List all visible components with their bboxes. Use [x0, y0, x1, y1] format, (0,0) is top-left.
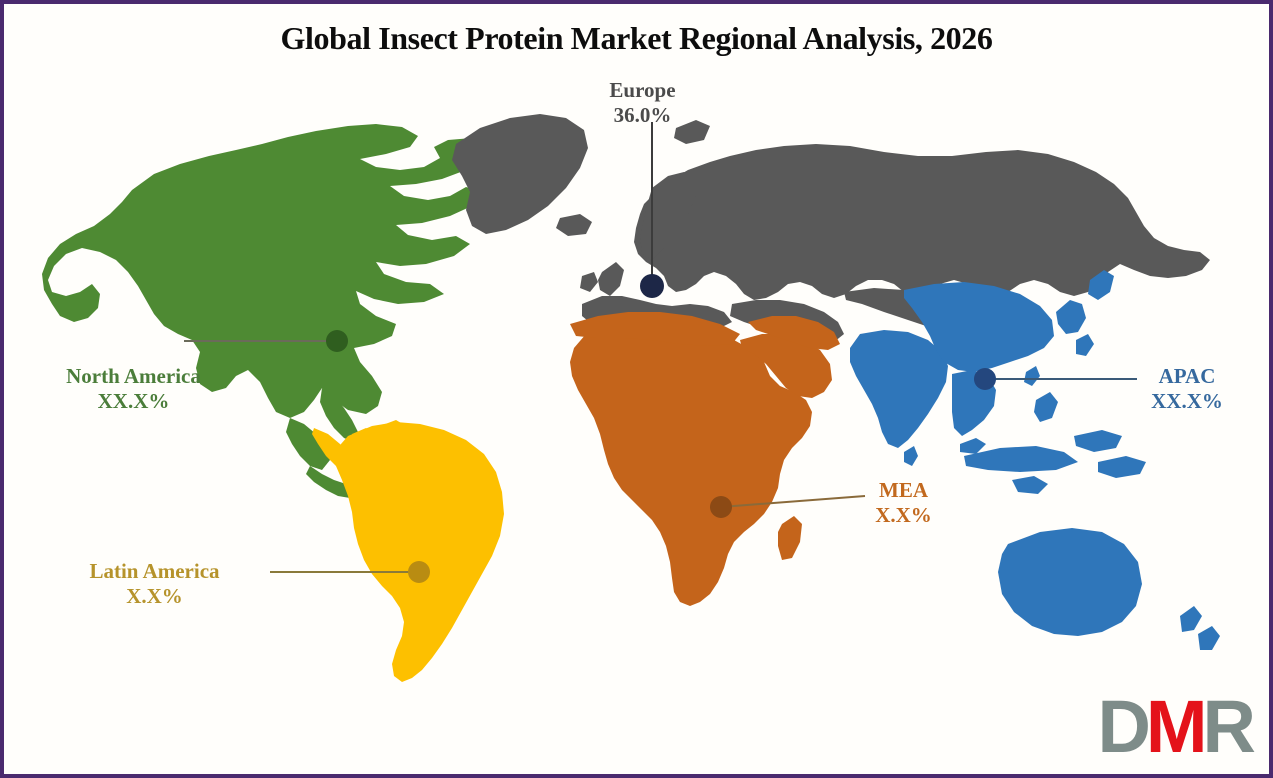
region-europe[interactable] [452, 114, 1210, 344]
logo-letter-d: D [1097, 685, 1145, 768]
region-name-europe: Europe [574, 78, 711, 103]
region-mea[interactable] [570, 312, 840, 606]
region-value-apac: XX.X% [1122, 389, 1252, 414]
marker-europe[interactable] [640, 274, 664, 298]
region-value-europe: 36.0% [574, 103, 711, 128]
region-latin-america[interactable] [312, 420, 504, 682]
dmr-logo: DMR [1097, 690, 1251, 764]
region-label-north-america: North America XX.X% [26, 364, 241, 414]
region-name-latin-america: Latin America [52, 559, 257, 584]
marker-apac[interactable] [974, 368, 996, 390]
logo-letter-m: M [1146, 685, 1203, 768]
chart-canvas: Global Insect Protein Market Regional An… [0, 0, 1273, 778]
region-name-north-america: North America [26, 364, 241, 389]
region-label-apac: APAC XX.X% [1122, 364, 1252, 414]
region-value-north-america: XX.X% [26, 389, 241, 414]
region-apac[interactable] [850, 270, 1220, 650]
marker-mea[interactable] [710, 496, 732, 518]
region-name-mea: MEA [840, 478, 967, 503]
region-name-apac: APAC [1122, 364, 1252, 389]
region-value-latin-america: X.X% [52, 584, 257, 609]
region-label-europe: Europe 36.0% [574, 78, 711, 128]
logo-letter-r: R [1203, 685, 1251, 768]
region-label-mea: MEA X.X% [840, 478, 967, 528]
marker-latin-america[interactable] [408, 561, 430, 583]
region-value-mea: X.X% [840, 503, 967, 528]
marker-north-america[interactable] [326, 330, 348, 352]
region-label-latin-america: Latin America X.X% [52, 559, 257, 609]
